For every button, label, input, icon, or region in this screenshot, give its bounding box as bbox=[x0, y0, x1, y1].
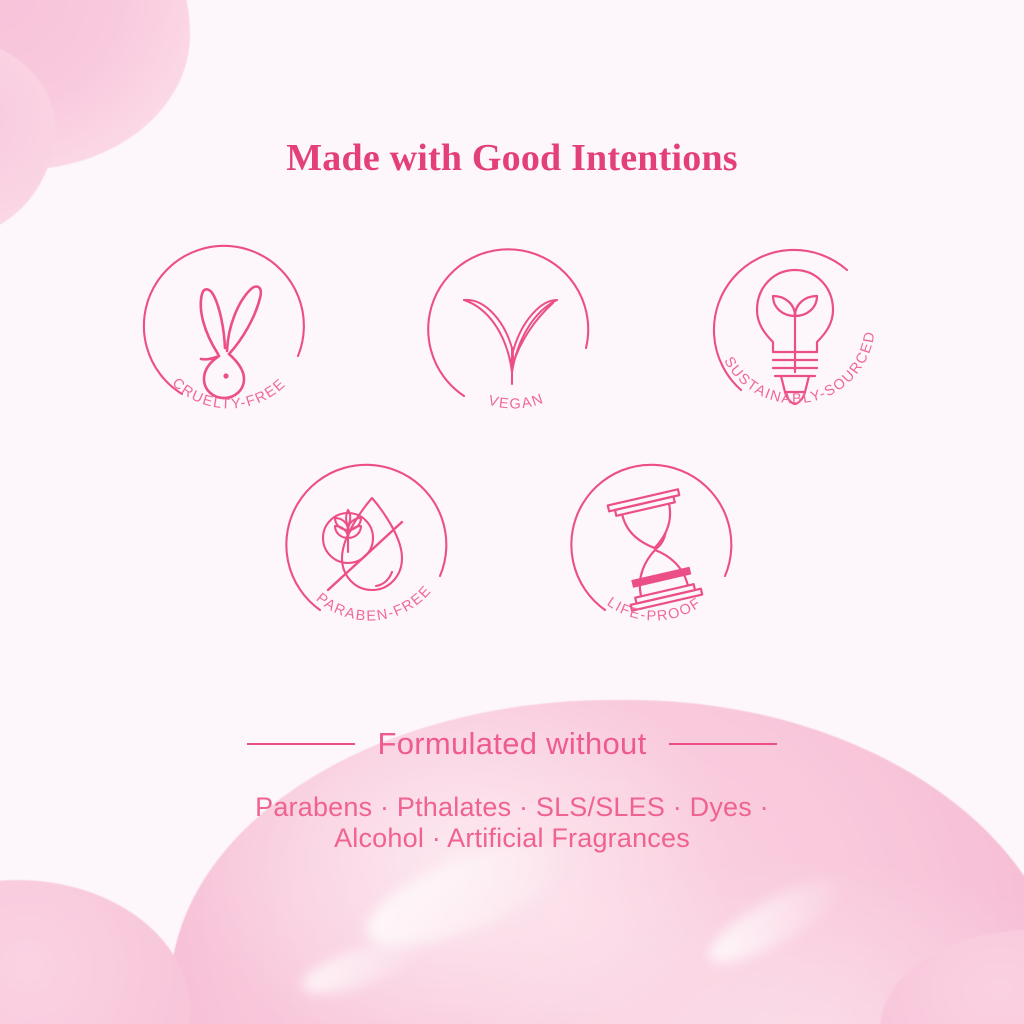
badge-label: CRUELTY-FREE bbox=[169, 375, 290, 413]
badge-vegan: VEGAN bbox=[414, 236, 610, 432]
droplet-sprout-slash-icon bbox=[323, 498, 402, 590]
badge-label: VEGAN bbox=[487, 391, 547, 413]
formulated-without-header: Formulated without bbox=[0, 726, 1024, 762]
excluded-ingredients-line-1: Parabens · Pthalates · SLS/SLES · Dyes · bbox=[0, 792, 1024, 823]
badge-ring bbox=[571, 465, 731, 610]
hourglass-icon bbox=[606, 488, 706, 611]
excluded-ingredients-list: Parabens · Pthalates · SLS/SLES · Dyes ·… bbox=[0, 792, 1024, 854]
badge-ring bbox=[144, 246, 304, 394]
bunny-icon bbox=[201, 287, 261, 398]
badge-ring bbox=[428, 249, 588, 396]
leaves-icon bbox=[464, 300, 557, 384]
promo-graphic: Made with Good Intentions bbox=[0, 0, 1024, 1024]
divider-right bbox=[669, 743, 777, 745]
page-title: Made with Good Intentions bbox=[0, 136, 1024, 180]
badge-life-proof: LIFE-PROOF bbox=[557, 452, 753, 648]
formulated-without-label: Formulated without bbox=[377, 726, 646, 762]
divider-left bbox=[247, 743, 355, 745]
badge-cruelty-free: CRUELTY-FREE bbox=[130, 236, 326, 432]
badge-label: PARABEN-FREE bbox=[313, 582, 435, 624]
lightbulb-sprout-icon bbox=[757, 270, 833, 404]
excluded-ingredients-line-2: Alcohol · Artificial Fragrances bbox=[0, 823, 1024, 854]
badge-paraben-free: PARABEN-FREE bbox=[272, 452, 468, 648]
badge-sustainably-sourced: SUSTAINABLY-SOURCED bbox=[697, 236, 893, 432]
